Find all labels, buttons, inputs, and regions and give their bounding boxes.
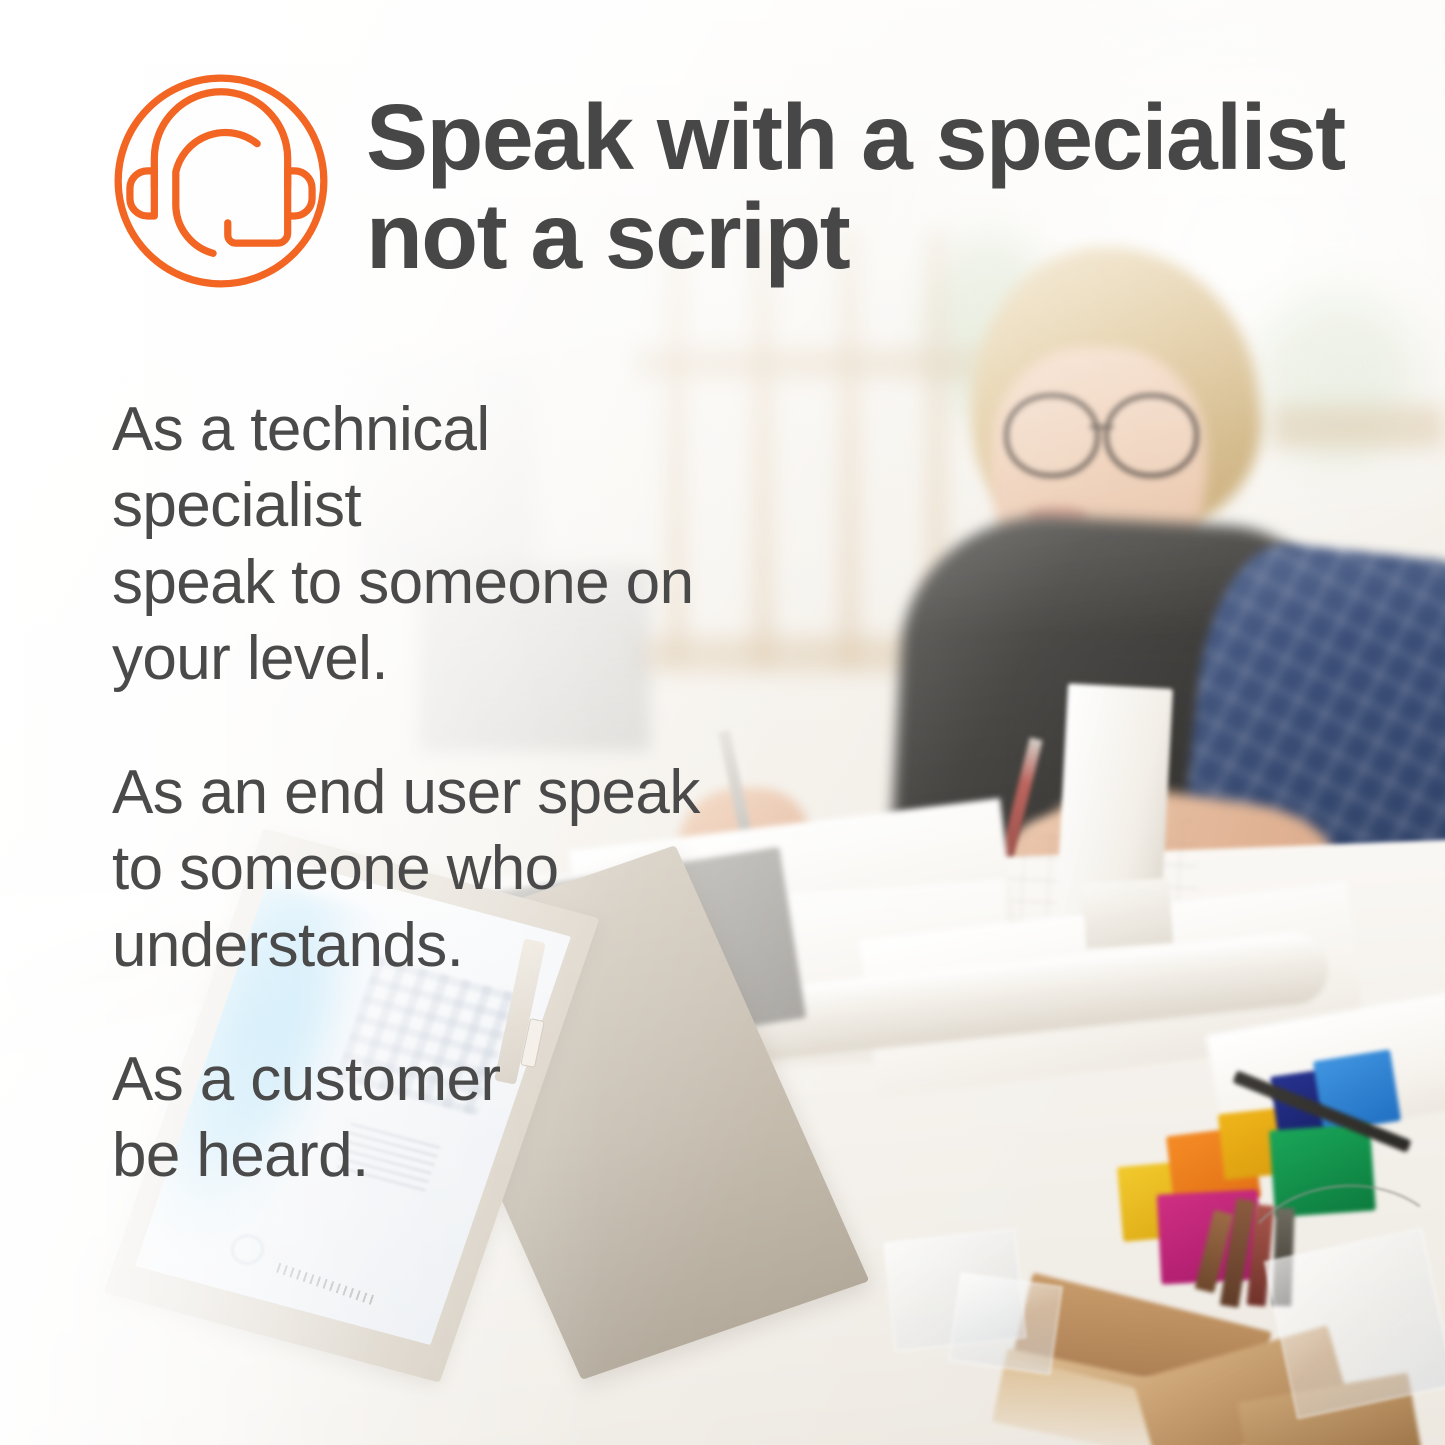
- body-paragraph-3: As a customer be heard.: [112, 1042, 752, 1195]
- body-paragraph-2: As an end user speak to someone who unde…: [112, 755, 752, 984]
- body-paragraph-1: As a technical specialist speak to someo…: [112, 392, 752, 697]
- headset-support-icon: [108, 68, 334, 294]
- promo-poster: Speak with a specialist not a script As …: [0, 0, 1445, 1445]
- poster-header: Speak with a specialist not a script: [108, 62, 1345, 294]
- body-copy: As a technical specialist speak to someo…: [112, 392, 752, 1194]
- page-title: Speak with a specialist not a script: [366, 62, 1345, 285]
- poster-content: Speak with a specialist not a script As …: [0, 0, 1445, 1445]
